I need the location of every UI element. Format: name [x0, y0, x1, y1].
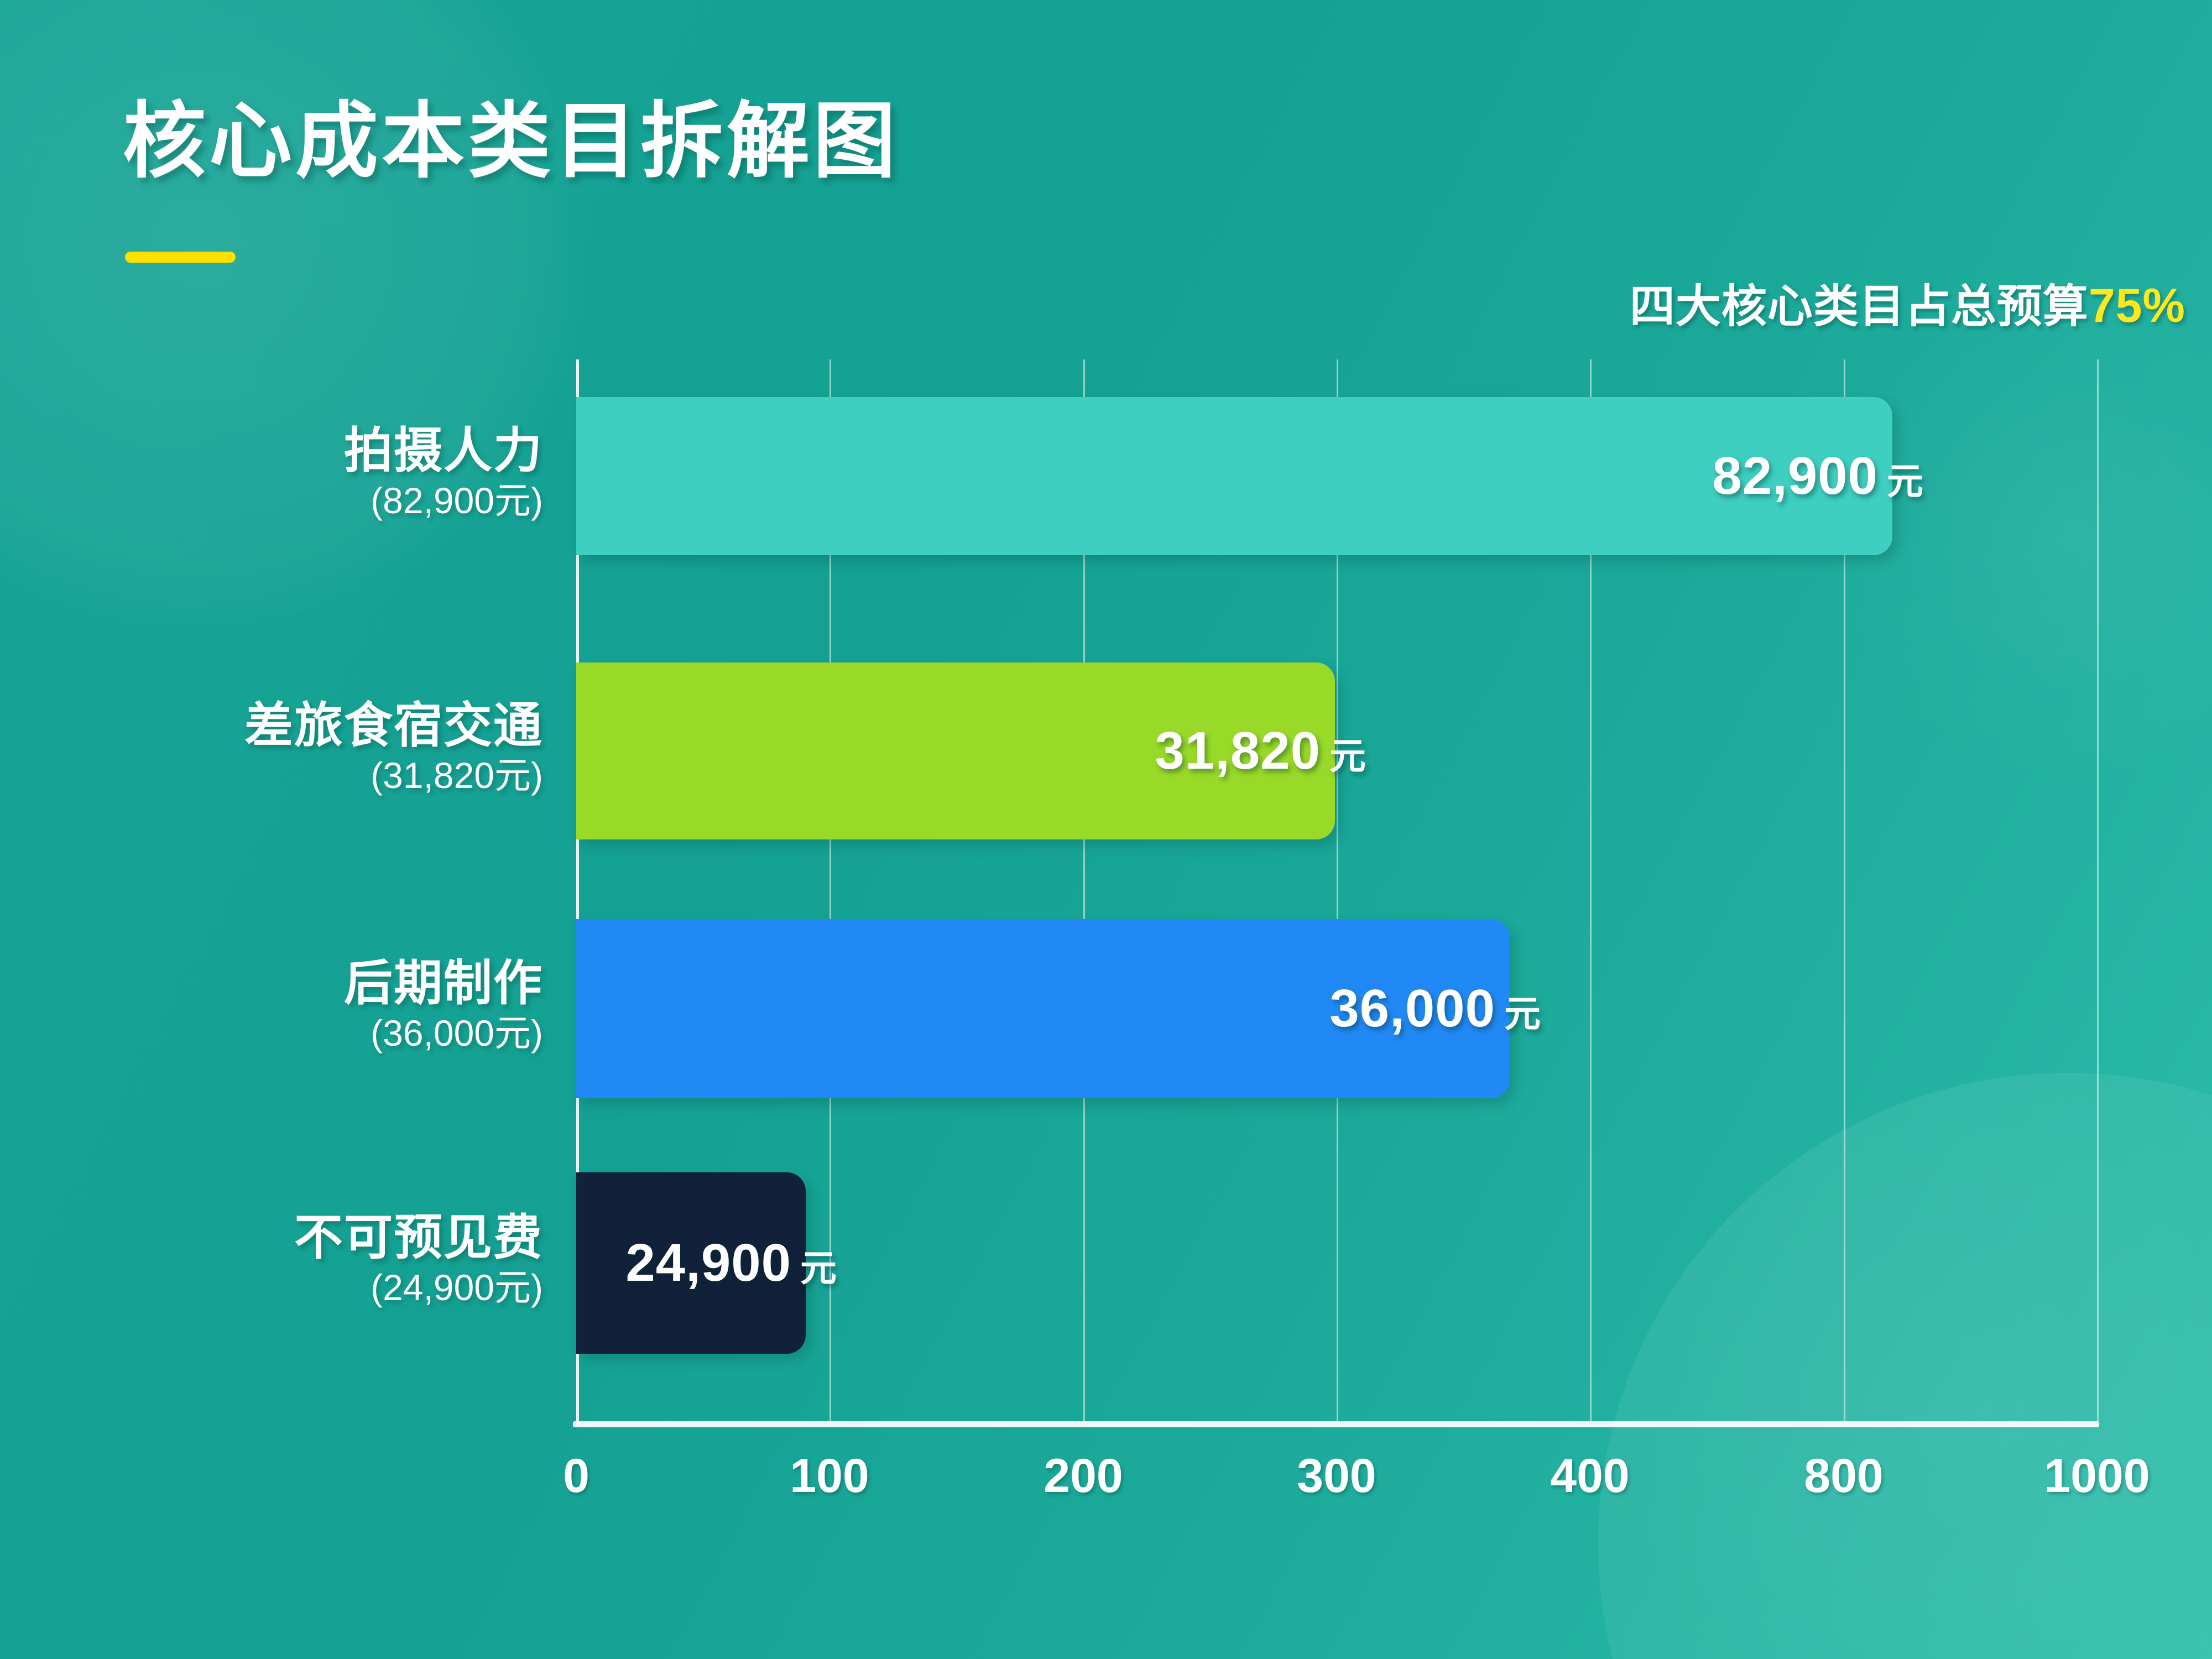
category-label-不可预见费: 不可预见费(24,900元) [294, 1212, 543, 1312]
bar-value-label: 31,820元 [1155, 721, 1366, 781]
x-tick-label-200: 200 [1044, 1449, 1123, 1504]
title-underline-accent [125, 252, 236, 263]
category-label-拍摄人力: 拍摄人力(82,900元) [344, 425, 543, 525]
bar-value-label: 82,900元 [1712, 446, 1923, 507]
subtitle: 四大核心类目占总预算75% [1630, 269, 2185, 335]
x-axis-line [573, 1421, 2099, 1427]
x-tick-label-300: 300 [1297, 1449, 1376, 1504]
category-label-后期制作: 后期制作(36,000元) [344, 958, 543, 1058]
x-tick-label-400: 400 [1550, 1449, 1630, 1504]
category-name: 拍摄人力 [344, 425, 543, 476]
gridline-1000 [2097, 359, 2099, 1424]
plot-area: 82,900元31,820元36,000元24,900元 [576, 359, 2097, 1424]
bar-value-label: 36,000元 [1329, 978, 1541, 1039]
x-tick-label-0: 0 [563, 1449, 589, 1504]
category-name: 差旅食宿交通 [244, 700, 543, 751]
bar-row[interactable] [576, 397, 1892, 555]
category-amount: (31,820元) [244, 751, 543, 800]
bar-value-unit: 元 [1329, 735, 1366, 776]
bar-value-number: 36,000 [1329, 979, 1495, 1038]
category-amount: (24,900元) [294, 1263, 543, 1312]
x-tick-label-1000: 1000 [2044, 1449, 2150, 1504]
bar-value-number: 24,900 [625, 1233, 791, 1292]
category-label-差旅食宿交通: 差旅食宿交通(31,820元) [244, 700, 543, 800]
category-name: 不可预见费 [294, 1212, 543, 1263]
bar-value-unit: 元 [1887, 461, 1923, 502]
page-title: 核心成本类目拆解图 [123, 100, 899, 182]
bar-拍摄人力[interactable] [576, 397, 1892, 555]
subtitle-highlight-percent: 75% [2089, 279, 2185, 332]
bar-value-number: 31,820 [1155, 721, 1321, 780]
bar-value-number: 82,900 [1712, 446, 1878, 505]
x-tick-label-800: 800 [1804, 1449, 1884, 1504]
category-amount: (82,900元) [344, 476, 543, 525]
bar-value-unit: 元 [800, 1248, 837, 1288]
x-tick-label-100: 100 [790, 1449, 869, 1504]
bar-value-unit: 元 [1504, 993, 1541, 1034]
category-name: 后期制作 [344, 958, 543, 1009]
category-amount: (36,000元) [344, 1009, 543, 1058]
subtitle-text: 四大核心类目占总预算 [1630, 281, 2089, 332]
chart-canvas: 核心成本类目拆解图 四大核心类目占总预算75% 82,900元31,820元36… [0, 0, 2212, 1659]
bar-value-label: 24,900元 [625, 1233, 837, 1293]
